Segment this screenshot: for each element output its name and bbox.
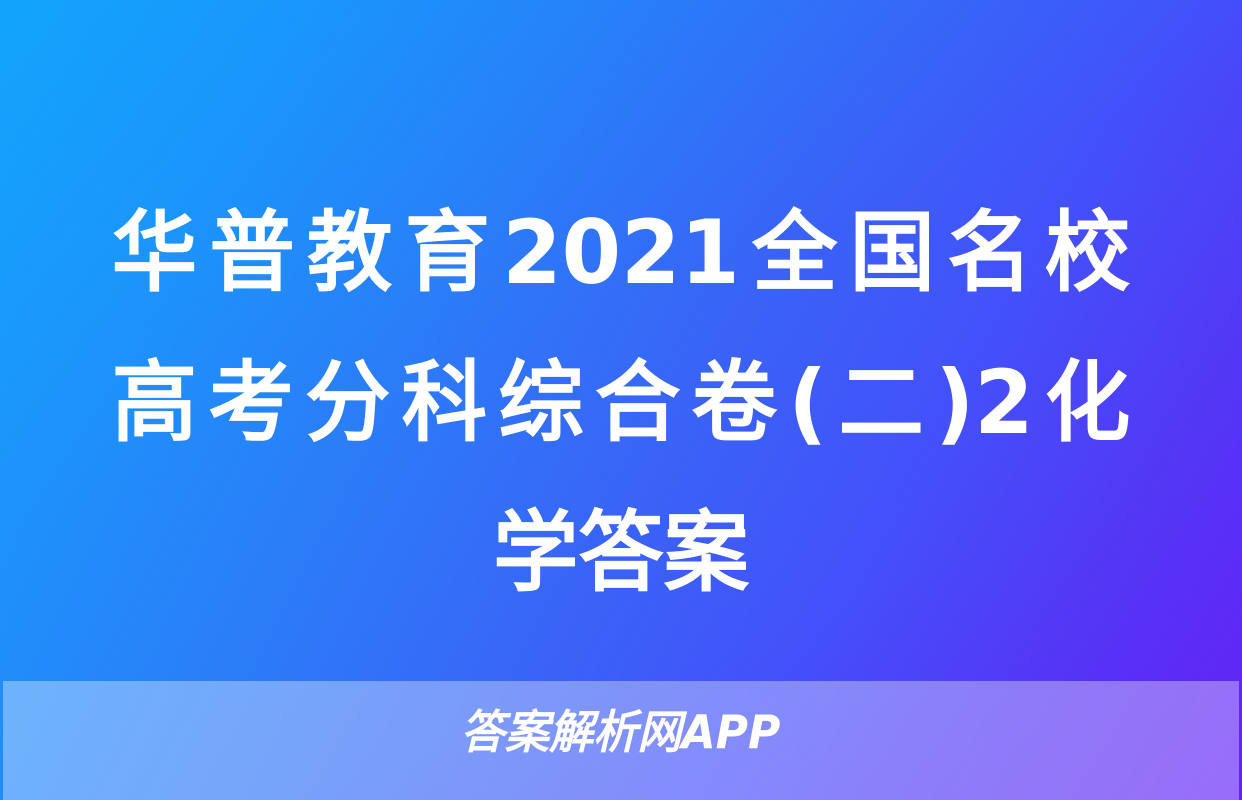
cover-card: 华普教育2021全国名校 高考分科综合卷(二)2化 学答案 答案解析网APP	[0, 0, 1242, 800]
title-line-2: 高考分科综合卷(二)2化	[112, 328, 1131, 478]
watermark-label: 答案解析网APP	[461, 703, 781, 761]
watermark: 答案解析网APP	[0, 703, 1242, 761]
page-title: 华普教育2021全国名校 高考分科综合卷(二)2化 学答案	[0, 178, 1242, 628]
title-line-1: 华普教育2021全国名校	[112, 178, 1131, 328]
title-line-3: 学答案	[112, 478, 1131, 628]
